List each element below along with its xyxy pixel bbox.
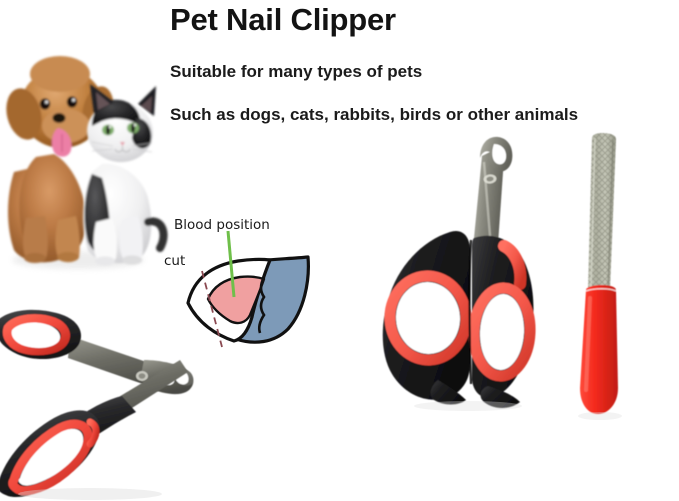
product-image-canvas: Pet Nail Clipper Suitable for many types…: [0, 0, 679, 501]
nail-clipper-open-photo: [0, 288, 206, 501]
description-line-2: Such as dogs, cats, rabbits, birds or ot…: [170, 104, 679, 126]
blood-position-label: Blood position: [174, 217, 270, 233]
nail-clipper-closed-photo: [378, 132, 564, 412]
nail-file-photo: [548, 132, 670, 420]
description-line-1: Suitable for many types of pets: [170, 61, 640, 83]
dog-and-cat-photo: [0, 22, 176, 274]
cut-label: cut: [164, 253, 185, 269]
page-title: Pet Nail Clipper: [170, 2, 630, 38]
